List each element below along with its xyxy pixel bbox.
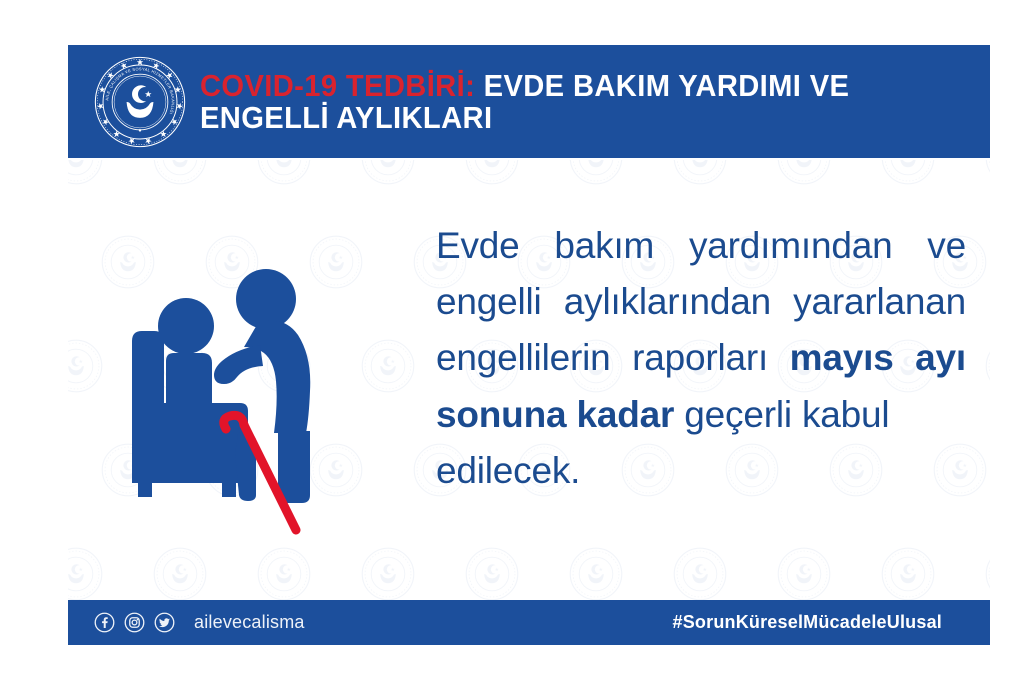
header-bar: T.C. AİLE, ÇALIŞMA VE SOSYAL HİZMETLER B… [68, 45, 990, 158]
caregiver-and-seated-elderly-person-with-cane [108, 253, 418, 553]
title-line-1-rest: EVDE BAKIM YARDIMI VE [475, 68, 849, 103]
header-titles: COVID-19 TEDBİRİ: EVDE BAKIM YARDIMI VE … [200, 70, 891, 133]
emblem-ring-text: T.C. AİLE, ÇALIŞMA VE SOSYAL HİZMETLER B… [92, 54, 176, 115]
social-group: ailevecalisma [94, 612, 305, 633]
title-accent: COVID-19 TEDBİRİ: [200, 68, 475, 103]
message-last-line: edilecek. [436, 443, 966, 499]
footer-bar: ailevecalisma #SorunKüreselMücadeleUlusa… [68, 600, 990, 645]
social-handle: ailevecalisma [194, 612, 305, 633]
ministry-emblem: T.C. AİLE, ÇALIŞMA VE SOSYAL HİZMETLER B… [92, 54, 188, 150]
emblem-crescent-hands [127, 85, 154, 118]
message-text: Evde bakım yardımından ve engelli aylıkl… [436, 218, 966, 499]
twitter-icon[interactable] [154, 612, 175, 633]
message-part-2: geçerli kabul [674, 394, 889, 435]
message-block: Evde bakım yardımından ve engelli aylıkl… [436, 218, 966, 499]
instagram-icon[interactable] [124, 612, 145, 633]
title-line-2: ENGELLİ AYLIKLARI [200, 102, 849, 134]
title-line-1: COVID-19 TEDBİRİ: EVDE BAKIM YARDIMI VE [200, 70, 849, 102]
poster-canvas: T.C. AİLE, ÇALIŞMA VE SOSYAL HİZMETLER B… [0, 0, 1024, 683]
hashtag: #SorunKüreselMücadeleUlusal [673, 612, 943, 633]
facebook-icon[interactable] [94, 612, 115, 633]
body-area: Evde bakım yardımından ve engelli aylıkl… [68, 158, 990, 600]
svg-text:T.C. AİLE, ÇALIŞMA VE SOSYAL H: T.C. AİLE, ÇALIŞMA VE SOSYAL HİZMETLER B… [92, 54, 176, 115]
